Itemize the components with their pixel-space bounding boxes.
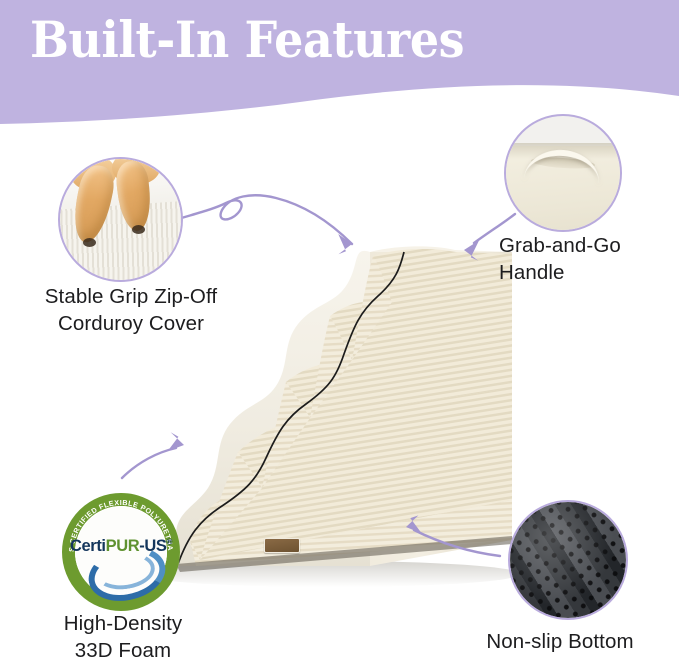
infographic-canvas: Built-In Features — [0, 0, 679, 658]
badge-wordmark-pur: PUR — [106, 537, 140, 555]
product-base-shadow — [176, 536, 512, 572]
product-step-2-riser — [200, 452, 262, 560]
cat-paws-on-corduroy-photo — [58, 157, 183, 282]
product-right-side-panel — [370, 252, 512, 566]
product-top-face — [370, 246, 512, 252]
carry-handle-photo-content — [506, 116, 620, 230]
cat-toe-bean-right — [132, 225, 145, 234]
non-slip-fabric-photo — [508, 500, 628, 620]
badge-wordmark-certi: Certi — [70, 537, 106, 555]
product-step-5-riser — [352, 256, 392, 360]
product-step-3-tread — [286, 340, 512, 418]
carry-handle-photo — [504, 114, 622, 232]
feature-label-non-slip-bottom: Non-slip Bottom — [445, 628, 675, 655]
arrow-head-foam — [168, 432, 185, 452]
feature-label-high-density-foam: High-Density 33D Foam — [18, 610, 228, 658]
arrow-path-nonslip — [414, 530, 500, 556]
product-ground-shadow — [140, 561, 520, 587]
arrow-head-cover — [335, 234, 353, 256]
arrow-path-cover — [178, 195, 352, 244]
feature-label-stable-grip-cover: Stable Grip Zip-Off Corduroy Cover — [6, 283, 256, 337]
non-slip-photo-content — [510, 502, 626, 618]
product-step-1-tread — [190, 440, 512, 560]
page-title: Built-In Features — [30, 14, 464, 67]
product-base-front-face — [190, 500, 512, 566]
product-step-2-tread — [238, 388, 512, 488]
leather-brand-tag — [264, 538, 300, 553]
product-step-4-tread — [330, 296, 512, 360]
non-slip-highlight — [510, 502, 626, 618]
cat-toe-bean-left — [83, 238, 96, 247]
product-step-5-tread — [373, 249, 512, 302]
feature-label-grab-and-go-handle: Grab-and-Go Handle — [499, 232, 679, 286]
certipur-us-badge: CONTAINS CERTIFIED FLEXIBLE POLYURETHANE… — [62, 493, 180, 611]
arrow-path-foam — [122, 448, 176, 478]
product-step-4-riser — [310, 316, 352, 418]
badge-wordmark-us: -US — [139, 537, 166, 555]
badge-wordmark: CertiPUR-US® — [62, 537, 180, 556]
arrow-head-handle — [463, 240, 481, 262]
product-step-3-riser — [262, 382, 310, 488]
badge-registered-mark: ® — [166, 538, 172, 547]
arrow-head-nonslip — [406, 515, 423, 534]
cat-paws-photo-content — [60, 159, 181, 280]
